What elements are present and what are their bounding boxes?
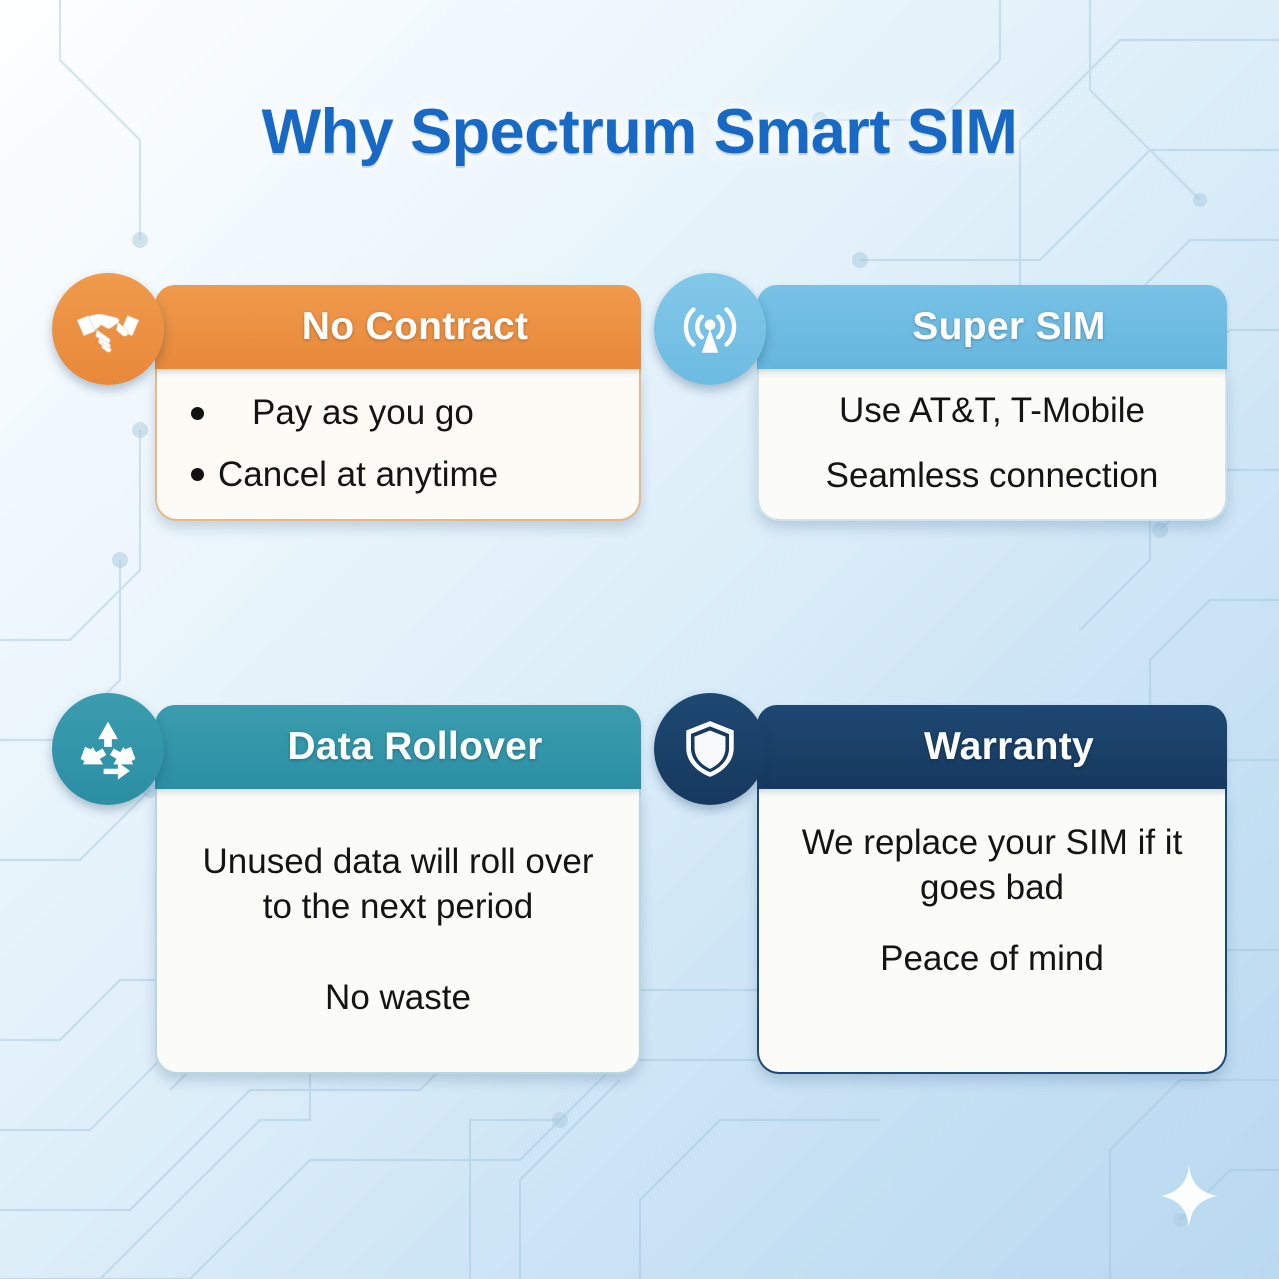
list-item: Pay as you go [191,382,613,444]
card-title-no-contract: No Contract [268,305,528,349]
card-title-super-sim: Super SIM [878,305,1105,349]
card-body-super-sim: Use AT&T, T-Mobile Seamless connection [757,369,1227,521]
shield-icon [654,693,766,805]
card-super-sim[interactable]: Super SIM Use AT&T, T-Mobile Seamless co… [757,285,1227,521]
bullet-dot [191,468,204,481]
antenna-signal-icon [654,273,766,385]
card-warranty[interactable]: Warranty We replace your SIM if it goes … [757,705,1227,1074]
card-line: No waste [183,974,613,1023]
page-title: Why Spectrum Smart SIM [0,96,1279,168]
card-data-rollover[interactable]: Data Rollover Unused data will roll over… [155,705,641,1074]
card-body-warranty: We replace your SIM if it goes bad Peace… [757,789,1227,1074]
card-title-data-rollover: Data Rollover [253,725,542,769]
recycle-icon [52,693,164,805]
circuit-pattern-background [0,0,1279,1279]
handshake-icon [52,273,164,385]
feature-list-no-contract: Pay as you go Cancel at anytime [191,382,613,506]
sparkle-star-icon [1161,1165,1217,1227]
list-item-label: Cancel at anytime [218,453,498,497]
card-body-data-rollover: Unused data will roll over to the next p… [155,789,641,1074]
card-header-no-contract: No Contract [155,285,641,369]
list-item-label: Pay as you go [252,391,474,435]
card-line: We replace your SIM if it goes bad [779,819,1205,913]
card-line: Unused data will roll over to the next p… [183,838,613,932]
bullet-dot [191,407,204,420]
card-header-super-sim: Super SIM [757,285,1227,369]
card-title-warranty: Warranty [890,725,1094,769]
card-line: Use AT&T, T-Mobile [775,387,1209,436]
card-no-contract[interactable]: No Contract Pay as you go Cancel at anyt… [155,285,641,521]
card-line: Peace of mind [779,935,1205,984]
card-header-data-rollover: Data Rollover [155,705,641,789]
card-header-warranty: Warranty [757,705,1227,789]
list-item: Cancel at anytime [191,444,613,506]
card-line: Seamless connection [775,452,1209,501]
infographic-canvas: Why Spectrum Smart SIM No Contract [0,0,1279,1279]
card-body-no-contract: Pay as you go Cancel at anytime [155,369,641,521]
